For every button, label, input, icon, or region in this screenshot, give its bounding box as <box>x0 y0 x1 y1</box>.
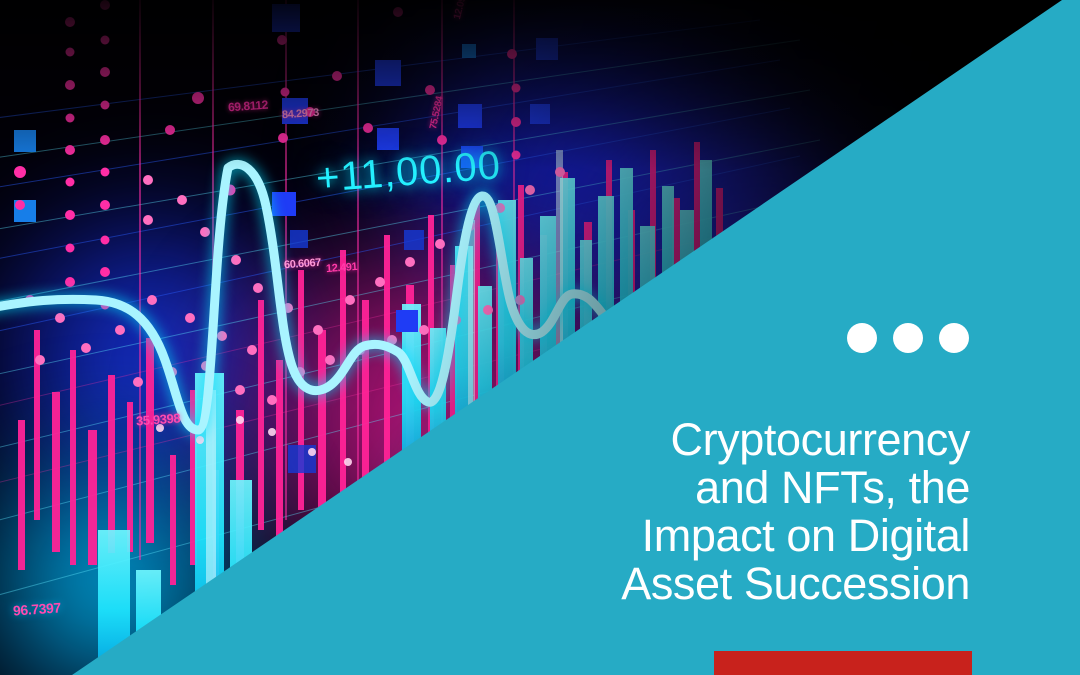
dot-icon-2 <box>893 323 923 353</box>
chart-value-69: 69.8112 <box>228 98 269 115</box>
three-dot-decoration <box>847 323 969 353</box>
chart-value-12: 12.491 <box>326 261 358 275</box>
chart-value-84: 84.2973 <box>282 107 320 122</box>
promo-banner: 69.8112 84.2973 75.5284 12.0910 60.6067 … <box>0 0 1080 675</box>
title-line-1: Cryptocurrency <box>450 416 970 464</box>
red-accent-bar <box>714 651 972 675</box>
page-title: Cryptocurrency and NFTs, the Impact on D… <box>450 416 970 608</box>
title-line-4: Asset Succession <box>450 560 970 608</box>
title-line-2: and NFTs, the <box>450 464 970 512</box>
title-line-3: Impact on Digital <box>450 512 970 560</box>
dot-icon-1 <box>847 323 877 353</box>
chart-value-35: 35.9398 <box>136 410 181 428</box>
chart-value-96: 96.7397 <box>13 599 62 618</box>
chart-value-60: 60.6067 <box>284 257 322 272</box>
dot-icon-3 <box>939 323 969 353</box>
